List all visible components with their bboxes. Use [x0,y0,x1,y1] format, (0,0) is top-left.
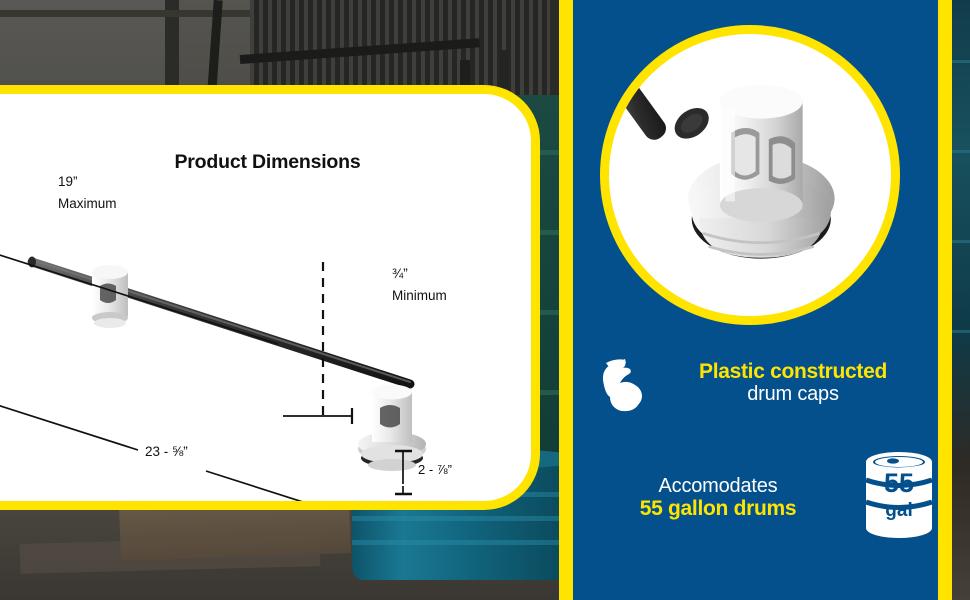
black-rod [609,65,715,145]
feature-plastic-line1: Plastic constructed [654,361,932,384]
feature-accomodates-drums: Accomodates 55 gallon drums 55 gal [592,450,940,547]
dimension-label-height-max-value: 19” [58,174,78,189]
dimension-label-height-min-qualifier: Minimum [392,288,447,303]
oil-drum-icon: 55 gal [858,450,940,547]
right-edge-photo-sliver [952,0,970,600]
drum-rib [952,330,970,333]
dimension-label-overall-length: 23 - ⅝” [145,444,188,459]
lower-drum-cap [358,385,426,472]
feature-drums-line1: Accomodates [592,476,844,498]
drum-rib [952,150,970,153]
floor-pallet [119,501,351,561]
feature-plastic-text: Plastic constructed drum caps [654,361,932,405]
drum-cap-product-image [609,34,891,316]
drum-rib [352,540,560,545]
gauge-rod-illustration [28,257,410,385]
product-dimensions-card: Product Dimensions [0,85,540,510]
feature-plastic-constructed: Plastic constructed drum caps [592,350,932,417]
dimension-overall-length [0,388,382,510]
divider-left [559,0,573,600]
drum-rib [352,516,560,521]
divider-right [938,0,952,600]
feature-plastic-line2: drum caps [654,384,932,406]
dimension-label-height-max-qualifier: Maximum [58,196,117,211]
drum-icon-number: 55 [884,468,914,498]
feature-drums-line2: 55 gallon drums [592,498,844,521]
dimension-label-height-min-value: ¾” [392,266,408,281]
dimension-drawing-svg [0,94,540,510]
infographic-root: Product Dimensions [0,0,970,600]
drum-rib [952,240,970,243]
drum-icon-unit: gal [885,500,912,521]
flexed-bicep-icon [592,350,654,417]
product-photo-circle [600,25,900,325]
feature-drums-text: Accomodates 55 gallon drums [592,476,844,520]
drum-cap-body [688,85,835,259]
drum-rib [952,60,970,63]
upper-drum-cap [92,265,128,328]
dimensions-diagram: 19” Maximum ¾” Minimum 23 - ⅝” 2 - ⅞” [0,94,540,510]
dimension-label-cap-diameter: 2 - ⅞” [418,462,452,477]
